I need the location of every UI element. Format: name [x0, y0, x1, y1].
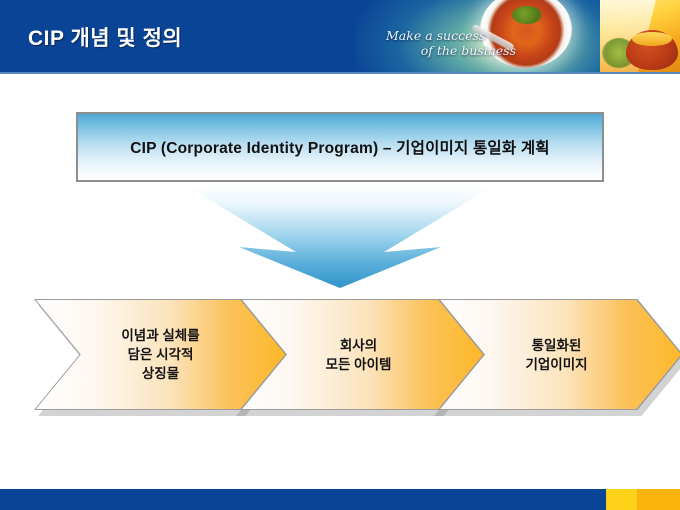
photo-strip-pot-lid: [632, 32, 672, 46]
chevron-row: 통일화된 기업이미지 회사의 모든 아이템 이념과 실체를 담은 시각적 상징물: [34, 299, 650, 414]
page-title: CIP 개념 및 정의: [28, 22, 182, 52]
slide-footer: [0, 489, 680, 510]
header-tagline-line2: of the business: [386, 43, 516, 58]
chevron-label: 회사의 모든 아이템: [326, 336, 392, 374]
header-photo-strip: [600, 0, 680, 72]
footer-yellow-block: [606, 489, 637, 510]
footer-blue-bar: [0, 489, 606, 510]
chevron-label: 이념과 실체를 담은 시각적 상징물: [121, 326, 199, 383]
down-arrow-icon: [188, 186, 492, 288]
footer-orange-block: [637, 489, 680, 510]
definition-box: CIP (Corporate Identity Program) – 기업이미지…: [76, 112, 604, 182]
chevron-step-1[interactable]: 이념과 실체를 담은 시각적 상징물: [34, 299, 287, 410]
chevron-label: 통일화된 기업이미지: [525, 336, 587, 374]
down-arrow: [188, 186, 492, 288]
header-tagline: Make a success of the business: [386, 28, 516, 58]
bowl-garnish-decoration: [512, 6, 542, 24]
header-tagline-line1: Make a success: [386, 28, 516, 43]
slide-header: CIP 개념 및 정의 Make a success of the busine…: [0, 0, 680, 72]
header-underline: [0, 72, 680, 74]
definition-box-text: CIP (Corporate Identity Program) – 기업이미지…: [130, 136, 550, 158]
